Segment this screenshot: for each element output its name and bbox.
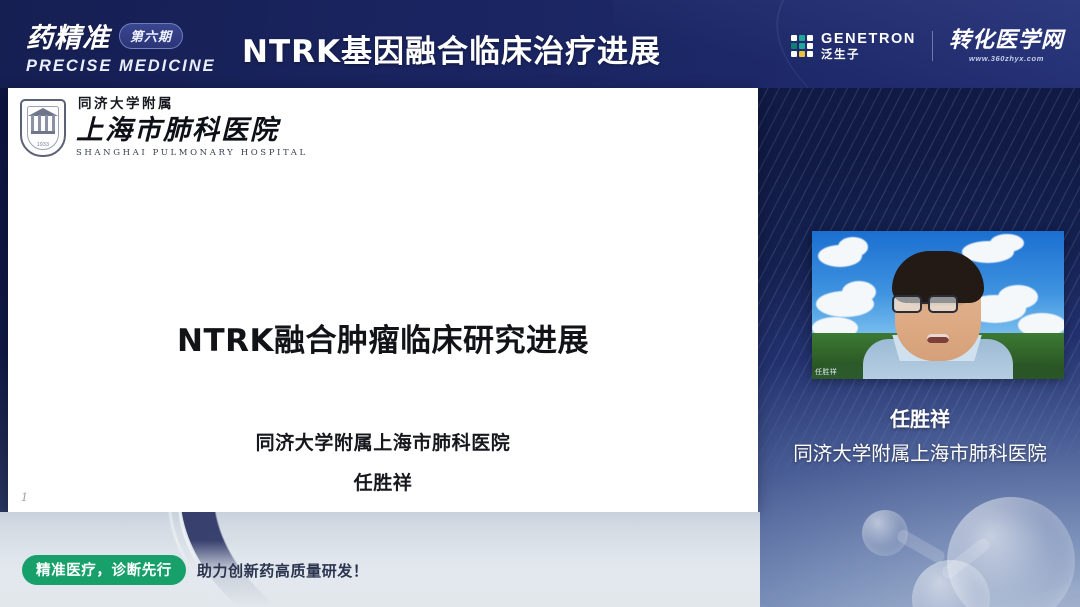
speaker-glasses-bridge	[922, 302, 930, 304]
page-title: NTRK基因融合临床治疗进展	[242, 26, 762, 71]
genetron-logo: GENETRON 泛生子	[791, 31, 916, 61]
cloud-4	[990, 234, 1024, 252]
presentation-slide[interactable]: 1933 同济大学附属 上海市肺科医院 SHANGHAI PULMONARY H…	[8, 88, 758, 512]
slogan-text: 助力创新药高质量研发！	[197, 560, 369, 581]
cloud-8	[998, 285, 1038, 309]
webinar-screen: 药精准 第六期 PRECISE MEDICINE NTRK基因融合临床治疗进展 …	[0, 0, 1080, 607]
brand-logo: 药精准 第六期 PRECISE MEDICINE	[26, 16, 226, 76]
brand-name-en: PRECISE MEDICINE	[26, 57, 226, 76]
cloud-6	[842, 281, 876, 303]
footer-band: 精准医疗，诊断先行 助力创新药高质量研发！	[0, 512, 760, 607]
hospital-name-en: SHANGHAI PULMONARY HOSPITAL	[76, 149, 308, 158]
brand-name-cn: 药精准	[26, 16, 110, 55]
speaker-affiliation: 同济大学附属上海市肺科医院	[752, 437, 1080, 466]
slogan-pill-label: 精准医疗，诊断先行	[22, 555, 186, 585]
hospital-name-cn: 上海市肺科医院	[76, 117, 308, 144]
molecule-sphere-small	[862, 510, 908, 556]
partner-url: www.360zhyx.com	[949, 55, 1064, 63]
slide-title: NTRK融合肿瘤临床研究进展	[8, 315, 758, 360]
genetron-name-cn: 泛生子	[821, 49, 916, 61]
footer-slogan: 精准医疗，诊断先行 助力创新药高质量研发！	[22, 555, 369, 585]
video-participant-label: 任胜祥	[815, 367, 837, 377]
crest-year: 1933	[22, 142, 64, 148]
speaker-mouth	[927, 334, 949, 343]
slide-subtitle-institution: 同济大学附属上海市肺科医院	[8, 428, 758, 455]
header-bar: 药精准 第六期 PRECISE MEDICINE NTRK基因融合临床治疗进展 …	[0, 0, 1080, 88]
partner-logos: GENETRON 泛生子 转化医学网 www.360zhyx.com	[791, 28, 1064, 64]
slide-subtitle-presenter: 任胜祥	[8, 468, 758, 495]
speaker-name: 任胜祥	[760, 403, 1080, 432]
speaker-glasses-left-lens	[892, 295, 922, 313]
speaker-video-tile[interactable]: 任胜祥	[812, 231, 1064, 379]
hospital-affiliation-line: 同济大学附属	[78, 98, 308, 112]
brand-episode-badge: 第六期	[119, 23, 183, 49]
genetron-mark-icon	[791, 35, 813, 57]
cloud-2	[838, 237, 868, 257]
partner-site-logo: 转化医学网 www.360zhyx.com	[949, 30, 1064, 63]
partner-name-cn: 转化医学网	[949, 28, 1064, 53]
speaker-glasses-right-lens	[928, 295, 958, 313]
hospital-logo: 1933 同济大学附属 上海市肺科医院 SHANGHAI PULMONARY H…	[20, 98, 308, 157]
slide-page-number: 1	[21, 491, 28, 504]
logo-divider	[932, 31, 933, 61]
genetron-name-en: GENETRON	[821, 31, 916, 47]
hospital-crest-icon: 1933	[20, 99, 66, 157]
